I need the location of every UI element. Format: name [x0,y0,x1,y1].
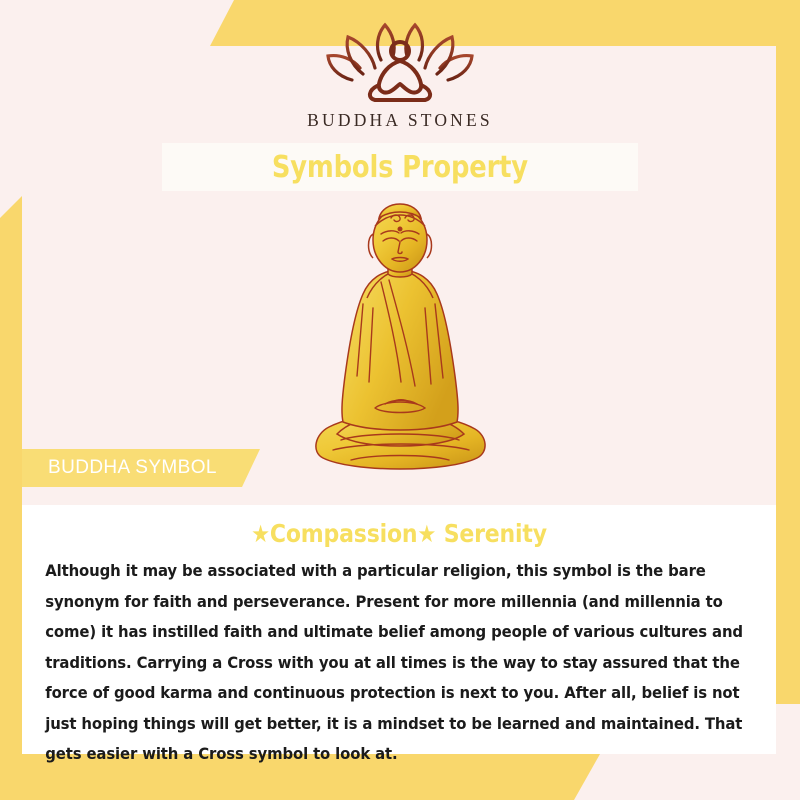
seated-buddha-statue-image [293,196,508,488]
product-info-graphic: BUDDHA STONES Symbols Property [0,0,800,800]
brand-logo: BUDDHA STONES [0,18,800,131]
buddha-symbol-tag-label: BUDDHA SYMBOL [48,457,217,479]
attribute-serenity: Serenity [444,519,547,548]
buddha-artwork [0,196,800,488]
star-icon: ★ [251,520,270,548]
buddha-symbol-tag: BUDDHA SYMBOL [22,449,260,487]
attributes-subtitle: ★Compassion★ Serenity [80,519,719,548]
content-panel: ★Compassion★ Serenity Although it may be… [22,505,776,754]
brand-name: BUDDHA STONES [307,110,493,131]
attribute-compassion: Compassion [270,519,418,548]
title-banner: Symbols Property [162,143,638,191]
description-paragraph: Although it may be associated with a par… [36,556,761,770]
star-icon: ★ [417,520,436,548]
lotus-meditation-figure-icon [315,18,485,104]
page-title: Symbols Property [272,150,528,185]
